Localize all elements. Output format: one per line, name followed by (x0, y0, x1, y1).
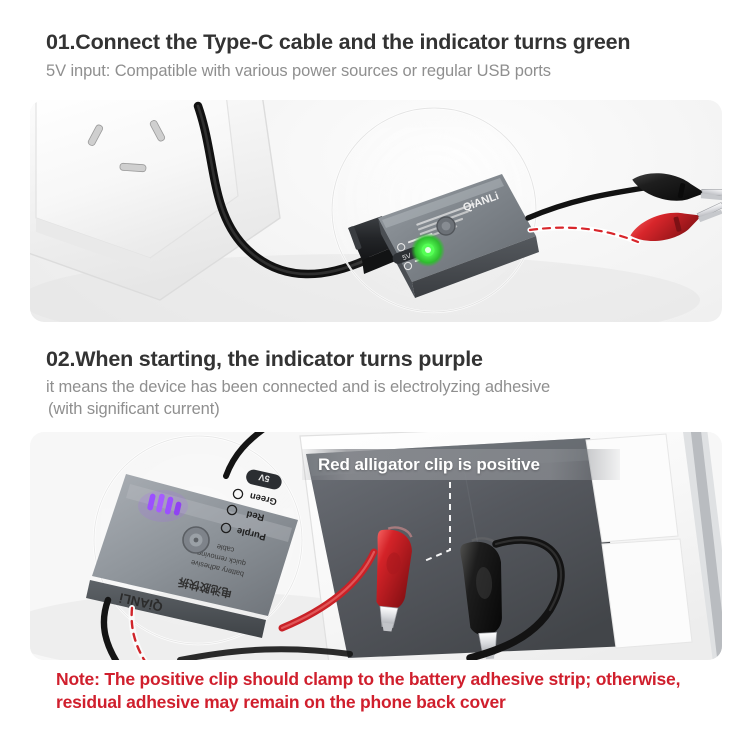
step-2-heading-container: 02.When starting, the indicator turns pu… (46, 347, 483, 372)
red-alligator-clip (627, 199, 722, 247)
step-1-subtitle: 5V input: Compatible with various power … (46, 62, 551, 81)
step-1-subtitle-container: 5V input: Compatible with various power … (46, 62, 551, 81)
callout-banner: Red alligator clip is positive (302, 449, 620, 480)
step-2-subtitle: it means the device has been connected a… (46, 378, 550, 397)
product-instruction-page: 01.Connect the Type-C cable and the indi… (0, 0, 750, 750)
step-1-heading-container: 01.Connect the Type-C cable and the indi… (46, 30, 630, 55)
step-2-subtitle-line2: (with significant current) (48, 400, 220, 419)
step-2-heading: 02.When starting, the indicator turns pu… (46, 347, 483, 372)
warning-note-line-1: Note: The positive clip should clamp to … (56, 668, 716, 691)
black-alligator-clip (630, 167, 722, 212)
step-1-heading: 01.Connect the Type-C cable and the indi… (46, 30, 630, 55)
step-2-subtitle-container: it means the device has been connected a… (46, 378, 550, 397)
callout-text: Red alligator clip is positive (318, 455, 540, 475)
warning-note-line-2: residual adhesive may remain on the phon… (56, 691, 716, 714)
warning-note: Note: The positive clip should clamp to … (56, 668, 716, 714)
step-1-photo: QiANLi (30, 100, 722, 322)
step-2-photo: QiANLi 电池胶快拆 battery adhesive quick remo… (30, 432, 722, 660)
step-2-subtitle-line2-container: (with significant current) (48, 400, 220, 419)
